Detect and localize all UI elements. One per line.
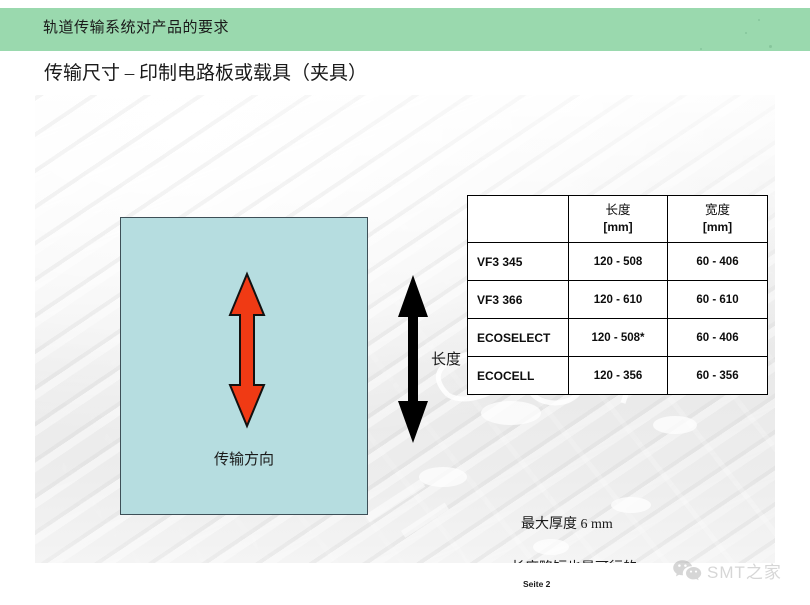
transport-direction-label: 传输方向 — [121, 448, 367, 469]
page-title: 传输尺寸 – 印制电路板或载具（夹具） — [44, 58, 367, 85]
scan-speck — [769, 45, 772, 48]
cell-length: 120 - 508 — [569, 243, 668, 281]
scan-speck — [700, 48, 702, 50]
table-header-width-label: 宽度 — [668, 202, 767, 219]
cell-width: 60 - 356 — [668, 357, 768, 395]
cell-width: 60 - 406 — [668, 243, 768, 281]
scan-speck — [745, 32, 747, 34]
cell-width: 60 - 406 — [668, 319, 768, 357]
cell-length: 120 - 508* — [569, 319, 668, 357]
length-dimension-arrow-icon — [395, 273, 431, 445]
table-header-row: 长度 [mm] 宽度 [mm] — [468, 196, 768, 243]
cell-model: VF3 366 — [468, 281, 569, 319]
length-label: 长度 — [431, 348, 461, 369]
watermark-text: SMT之家 — [707, 558, 782, 583]
dimension-spec-table: 长度 [mm] 宽度 [mm] VF3 345 120 - 508 60 - 4… — [467, 195, 768, 395]
cell-length: 120 - 610 — [569, 281, 668, 319]
cell-length: 120 - 356 — [569, 357, 668, 395]
table-row: VF3 345 120 - 508 60 - 406 — [468, 243, 768, 281]
table-header-length-label: 长度 — [569, 202, 667, 219]
width-dimension-arrow-icon — [138, 560, 344, 563]
transport-direction-arrow-icon — [225, 271, 269, 429]
asterisk-footnote: *长度略短也是可行的 — [504, 557, 637, 563]
table-header-model — [468, 196, 569, 243]
page-number: Seite 2 — [523, 579, 550, 589]
table-header-length-unit: [mm] — [569, 219, 667, 236]
wechat-icon — [672, 558, 702, 582]
table-row: ECOCELL 120 - 356 60 - 356 — [468, 357, 768, 395]
watermark: SMT之家 — [672, 553, 804, 587]
slide-canvas: 轨道传输系统对产品的要求 传输尺寸 – 印制电路板或载具（夹具） — [0, 0, 810, 605]
cell-width: 60 - 610 — [668, 281, 768, 319]
max-thickness-note: 最大厚度 6 mm — [521, 513, 613, 533]
table-row: ECOSELECT 120 - 508* 60 - 406 — [468, 319, 768, 357]
table-row: VF3 366 120 - 610 60 - 610 — [468, 281, 768, 319]
table-header-width: 宽度 [mm] — [668, 196, 768, 243]
header-title: 轨道传输系统对产品的要求 — [43, 16, 229, 37]
table-header-length: 长度 [mm] — [569, 196, 668, 243]
cell-model: ECOCELL — [468, 357, 569, 395]
table-header-width-unit: [mm] — [668, 219, 767, 236]
cell-model: VF3 345 — [468, 243, 569, 281]
scan-speck — [758, 19, 760, 21]
cell-model: ECOSELECT — [468, 319, 569, 357]
